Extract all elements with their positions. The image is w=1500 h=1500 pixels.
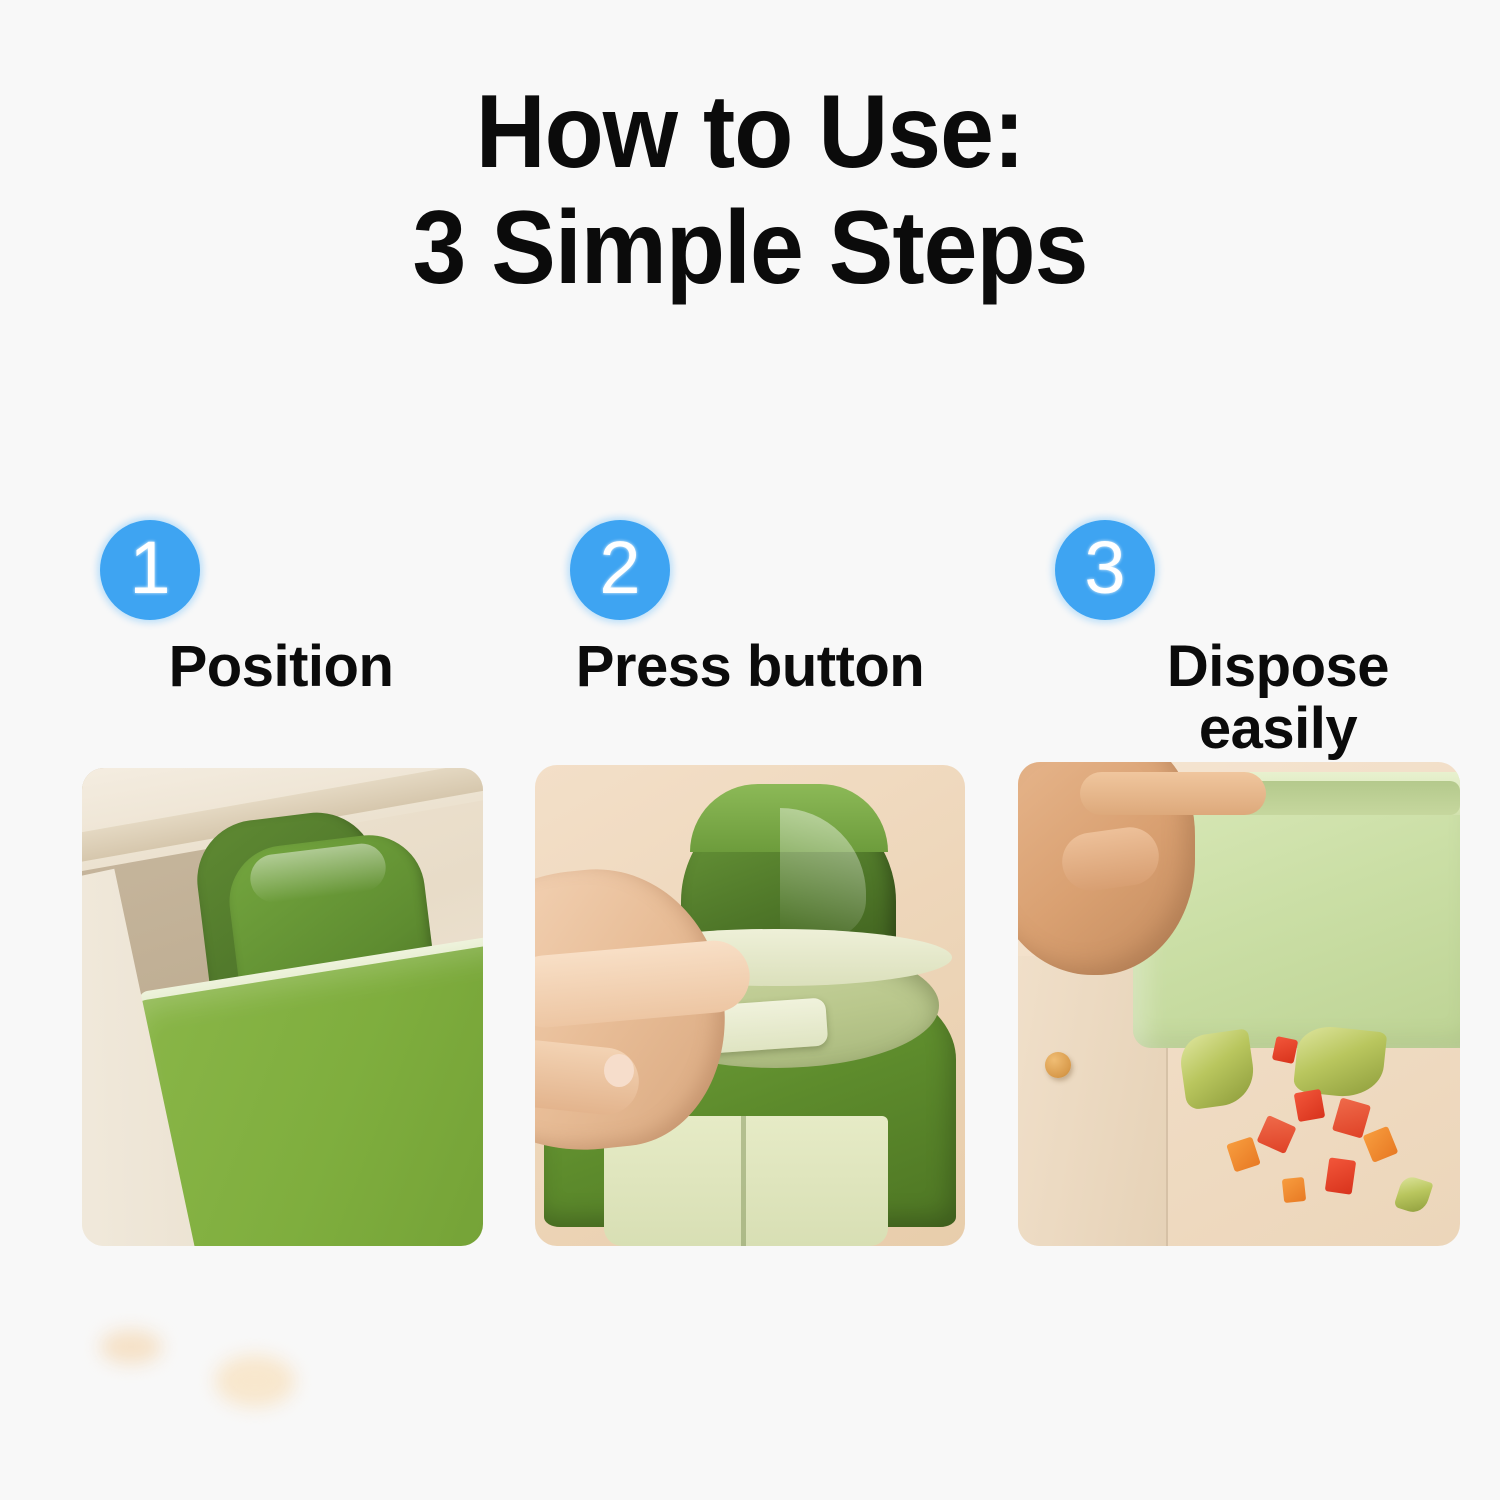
step-1-label: Position	[82, 636, 484, 698]
step-2-label: Press button	[535, 636, 965, 698]
background-artifact-1	[100, 1330, 162, 1364]
step-2-number: 2	[599, 531, 640, 605]
thumb-nail	[604, 1054, 634, 1088]
step-3-badge: 3	[1055, 520, 1155, 620]
step-1-number: 1	[129, 531, 170, 605]
background-artifact-2	[215, 1355, 295, 1407]
scrap-pepper-4	[1294, 1089, 1325, 1122]
step-2-photo	[535, 765, 965, 1246]
infographic-page: How to Use: 3 Simple Steps 1 Position 2 …	[0, 0, 1500, 1500]
scrap-pepper-7	[1325, 1157, 1356, 1194]
step-2-badge: 2	[570, 520, 670, 620]
step-1-photo	[82, 768, 483, 1246]
steps-container: 1 Position 2 Press button 3 Dispose easi…	[0, 0, 1500, 1500]
step-2: 2 Press button	[535, 520, 965, 698]
bin-seam	[741, 1116, 746, 1246]
step-3: 3 Dispose easily	[1018, 520, 1460, 760]
fingers	[1080, 772, 1266, 816]
cabinet-knob	[1045, 1052, 1071, 1078]
step-1-badge: 1	[100, 520, 200, 620]
step-1: 1 Position	[82, 520, 484, 698]
step-3-label-line-2: easily	[1096, 698, 1460, 760]
step-3-photo	[1018, 762, 1460, 1246]
step-3-label-line-1: Dispose	[1096, 636, 1460, 698]
step-3-number: 3	[1084, 531, 1125, 605]
scrap-pepper-8	[1282, 1177, 1307, 1203]
step-3-label: Dispose easily	[1018, 636, 1460, 760]
